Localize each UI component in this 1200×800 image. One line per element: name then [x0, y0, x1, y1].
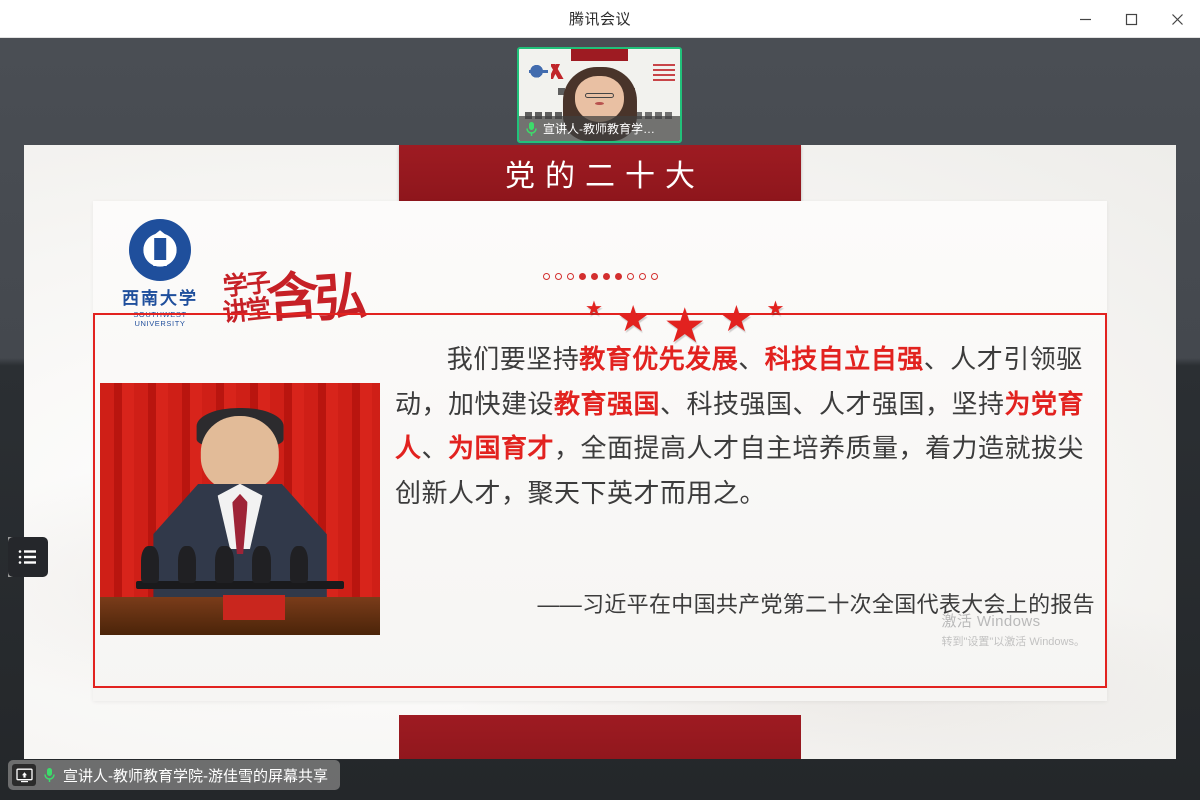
windows-activation-watermark: 激活 Windows 转到"设置"以激活 Windows。 [942, 610, 1086, 649]
slide-card: 西南大学 SOUTHWEST UNIVERSITY 学子 讲堂 含 弘 [93, 201, 1107, 701]
maximize-icon [1125, 13, 1138, 26]
screen-share-icon [12, 764, 36, 786]
thumbnail-label-bar: 宣讲人-教师教育学… [519, 116, 680, 141]
mic-bar [136, 581, 343, 589]
thumb-banner [571, 49, 629, 61]
quote-highlight: 科技自立自强 [765, 344, 924, 374]
tencent-meeting-window: 腾讯会议 [0, 0, 1200, 800]
microphone-icon [215, 546, 234, 582]
participant-thumbnail[interactable]: 宣讲人-教师教育学… [517, 47, 682, 143]
screen-share-status-bar[interactable]: 宣讲人-教师教育学院-游佳雪的屏幕共享 [8, 760, 340, 790]
microphone-icon [178, 546, 197, 582]
close-icon [1171, 13, 1184, 26]
side-panel-toggle[interactable] [8, 537, 48, 577]
close-button[interactable] [1154, 0, 1200, 38]
window-title: 腾讯会议 [569, 8, 631, 29]
microphone-icon [43, 767, 56, 783]
thumb-logo-left-icon [529, 65, 548, 80]
side-panel-toggle-surface[interactable] [8, 537, 48, 577]
meeting-stage: 宣讲人-教师教育学… 党的二十大 西南大学 SOUTHWEST UNIVERSI… [0, 38, 1200, 800]
slide-bottom-banner [399, 715, 801, 759]
maximize-button[interactable] [1108, 0, 1154, 38]
slide-title-banner: 党的二十大 [399, 145, 801, 201]
photo-microphones [136, 549, 343, 599]
page-dot[interactable] [627, 273, 634, 280]
quote-segment: 、科技强国、人才强国，坚持 [660, 389, 1005, 419]
watermark-line-2: 转到"设置"以激活 Windows。 [942, 633, 1086, 649]
page-dot[interactable] [615, 273, 622, 280]
quote-segment: 、 [738, 344, 765, 374]
shared-screen-slide: 党的二十大 西南大学 SOUTHWEST UNIVERSITY 学子 讲堂 含 [24, 145, 1176, 759]
quote-highlight: 教育优先发展 [579, 344, 738, 374]
university-name-cn: 西南大学 [111, 284, 209, 309]
microphone-icon [141, 546, 160, 582]
speaker-photo [100, 383, 380, 635]
star-icon: ★ [720, 301, 752, 337]
quote-segment: 我们要坚持 [447, 344, 580, 374]
quote-highlight: 为国育才 [448, 433, 554, 463]
page-dot[interactable] [591, 273, 598, 280]
thumb-person-glasses [585, 93, 614, 98]
page-dot[interactable] [555, 273, 562, 280]
page-dot[interactable] [651, 273, 658, 280]
page-dot[interactable] [639, 273, 646, 280]
microphone-icon [525, 121, 538, 137]
microphone-icon [252, 546, 271, 582]
watermark-line-1: 激活 Windows [942, 610, 1086, 631]
title-bar: 腾讯会议 [0, 0, 1200, 38]
screen-share-text: 宣讲人-教师教育学院-游佳雪的屏幕共享 [63, 765, 328, 786]
page-indicator-dots [93, 273, 1107, 280]
page-dot[interactable] [603, 273, 610, 280]
microphone-icon [290, 546, 309, 582]
slide-title-text: 党的二十大 [495, 151, 705, 195]
university-seal-icon [129, 219, 191, 281]
minimize-button[interactable] [1062, 0, 1108, 38]
page-dot[interactable] [567, 273, 574, 280]
list-menu-icon [18, 549, 38, 565]
star-icon: ★ [767, 299, 785, 319]
thumb-logo-right-icon [653, 64, 676, 84]
quote-highlight: 教育强国 [554, 389, 660, 419]
photo-speaker-head [201, 416, 279, 492]
star-icon: ★ [585, 299, 603, 319]
minimize-icon [1079, 13, 1092, 26]
star-icon: ★ [617, 301, 649, 337]
page-dot[interactable] [579, 273, 586, 280]
thumb-person-mouth [595, 102, 605, 106]
quote-segment: 、 [422, 433, 449, 463]
page-dot[interactable] [543, 273, 550, 280]
window-controls [1062, 0, 1200, 38]
thumbnail-participant-name: 宣讲人-教师教育学… [543, 120, 655, 137]
quote-text: 我们要坚持教育优先发展、科技自立自强、人才引领驱动，加快建设教育强国、科技强国、… [395, 337, 1095, 516]
